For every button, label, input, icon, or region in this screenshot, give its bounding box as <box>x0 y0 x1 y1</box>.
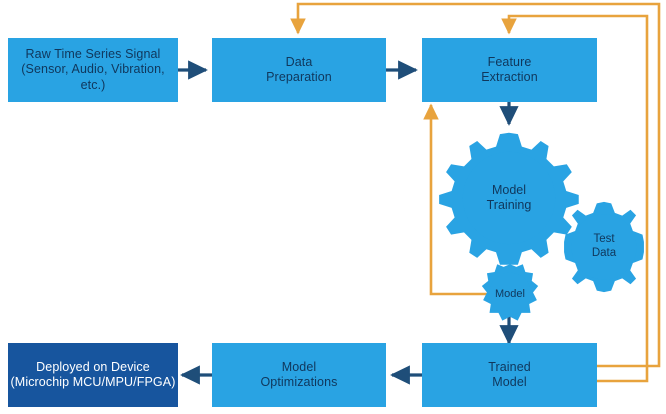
node-model-optimizations-label: Model Optimizations <box>260 360 337 391</box>
node-feature-extraction[interactable]: Feature Extraction <box>422 38 597 102</box>
node-feature-extraction-label: Feature Extraction <box>481 55 538 86</box>
node-deployed-on-device[interactable]: Deployed on Device (Microchip MCU/MPU/FP… <box>8 343 178 407</box>
node-deployed-on-device-label: Deployed on Device (Microchip MCU/MPU/FP… <box>11 360 176 391</box>
node-data-preparation[interactable]: Data Preparation <box>212 38 386 102</box>
node-model-optimizations[interactable]: Model Optimizations <box>212 343 386 407</box>
node-raw-signal-label: Raw Time Series Signal (Sensor, Audio, V… <box>8 47 178 93</box>
gear-icon <box>478 263 542 327</box>
diagram-canvas: Raw Time Series Signal (Sensor, Audio, V… <box>0 0 666 414</box>
node-trained-model[interactable]: Trained Model <box>422 343 597 407</box>
node-raw-signal[interactable]: Raw Time Series Signal (Sensor, Audio, V… <box>8 38 178 102</box>
node-trained-model-label: Trained Model <box>488 360 531 391</box>
node-data-preparation-label: Data Preparation <box>266 55 332 86</box>
node-test-data[interactable]: Test Data <box>556 199 652 295</box>
node-model[interactable]: Model <box>478 263 542 327</box>
gear-icon <box>556 199 652 295</box>
